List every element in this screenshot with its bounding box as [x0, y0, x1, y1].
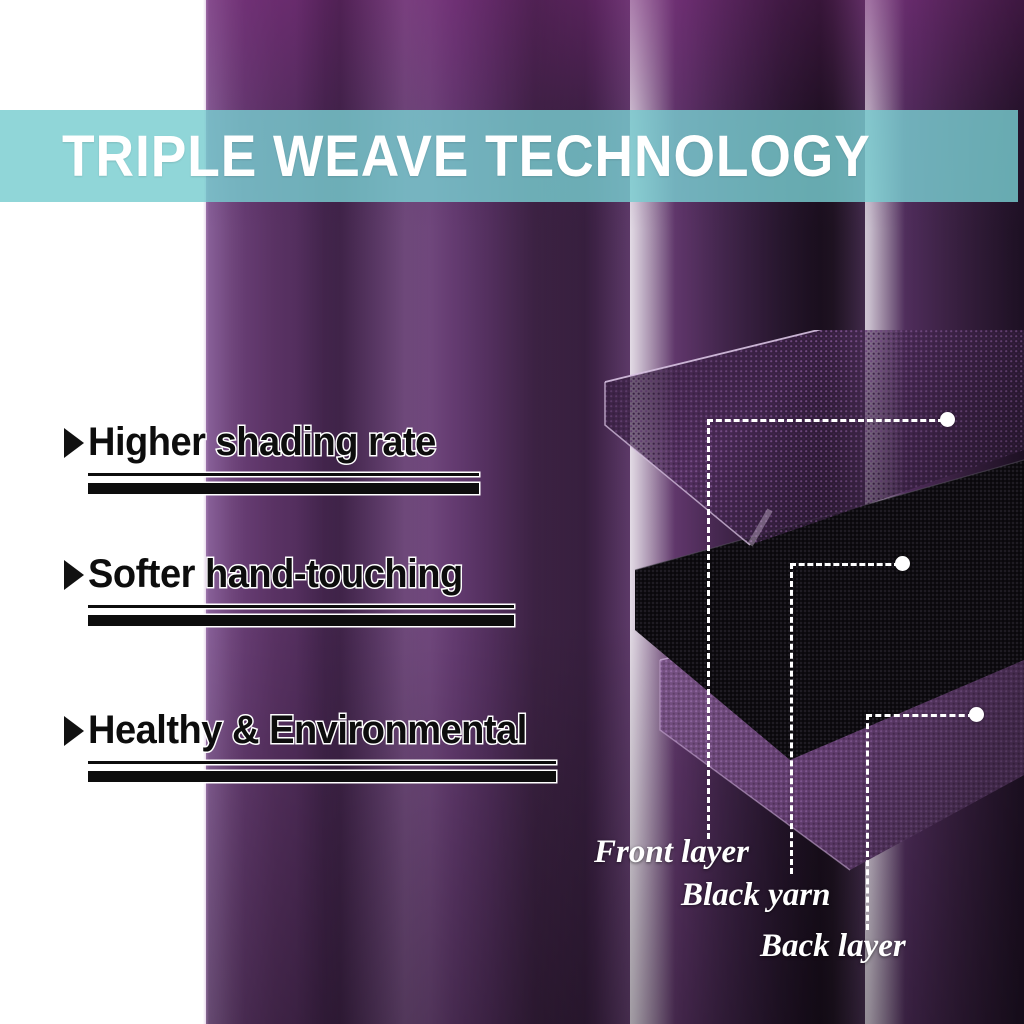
feature-row-2: Softer hand-touching [64, 552, 514, 597]
callout-label-back-layer: Back layer [760, 928, 906, 965]
callout-line-v-black-yarn [790, 563, 793, 874]
callout-label-front-layer: Front layer [594, 834, 749, 871]
callout-line-v-front-layer [707, 419, 710, 839]
callout-line-h-black-yarn [790, 563, 900, 566]
fabric-layer-diagram [600, 330, 1024, 890]
triangle-bullet-icon [64, 428, 84, 458]
underline-thick [88, 771, 556, 782]
feature-underline-3 [64, 761, 556, 782]
callout-line-h-front-layer [707, 419, 944, 422]
feature-label-3: Healthy & Environmental [88, 708, 527, 753]
feature-label-1: Higher shading rate [88, 420, 436, 465]
callout-label-black-yarn: Black yarn [681, 877, 830, 914]
underline-thin [88, 605, 514, 608]
triangle-bullet-icon [64, 560, 84, 590]
headline-banner: TRIPLE WEAVE TECHNOLOGY [0, 110, 1018, 202]
underline-thin [88, 473, 479, 476]
feature-row-1: Higher shading rate [64, 420, 479, 465]
feature-item-2: Softer hand-touching [64, 552, 514, 626]
feature-item-1: Higher shading rate [64, 420, 479, 494]
feature-item-3: Healthy & Environmental [64, 708, 556, 782]
feature-underline-1 [64, 473, 479, 494]
feature-label-2: Softer hand-touching [88, 552, 463, 597]
underline-thin [88, 761, 556, 764]
feature-underline-2 [64, 605, 514, 626]
product-feature-image: TRIPLE WEAVE TECHNOLOGY Higher shading r… [0, 0, 1024, 1024]
triangle-bullet-icon [64, 716, 84, 746]
callout-line-h-back-layer [866, 714, 974, 717]
underline-thick [88, 615, 514, 626]
underline-thick [88, 483, 479, 494]
banner-title: TRIPLE WEAVE TECHNOLOGY [62, 123, 871, 190]
callout-line-v-back-layer [866, 714, 869, 930]
feature-row-3: Healthy & Environmental [64, 708, 556, 753]
